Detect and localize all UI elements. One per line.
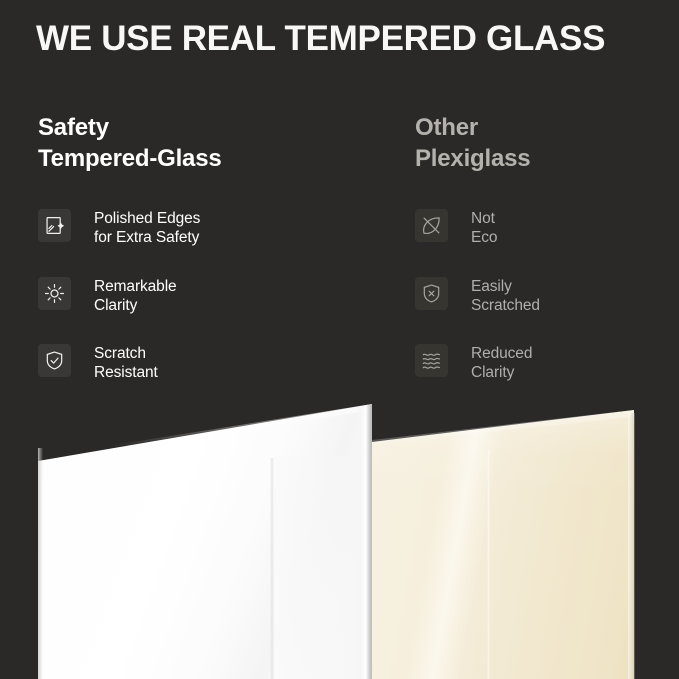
feature-scratch-resistant: Scratch Resistant: [38, 344, 158, 382]
feature-label: Not Eco: [471, 209, 497, 247]
feature-not-eco: Not Eco: [415, 209, 497, 247]
feature-label: Reduced Clarity: [471, 344, 532, 382]
plexiglass-panel: [372, 410, 634, 679]
feature-label: Easily Scratched: [471, 277, 540, 315]
feature-label: Polished Edges for Extra Safety: [94, 209, 200, 247]
feature-reduced-clarity: Reduced Clarity: [415, 344, 532, 382]
tempered-glass-panel: [38, 404, 372, 679]
polished-edges-icon: [38, 209, 71, 242]
feature-remarkable-clarity: Remarkable Clarity: [38, 277, 177, 315]
feature-label: Remarkable Clarity: [94, 277, 177, 315]
not-eco-crossed-leaf-icon: [415, 209, 448, 242]
feature-polished-edges: Polished Edges for Extra Safety: [38, 209, 200, 247]
comparison-infographic: WE USE REAL TEMPERED GLASS Safety Temper…: [0, 0, 679, 679]
column-heading-right: Other Plexiglass: [415, 112, 530, 174]
wavy-lines-icon: [415, 344, 448, 377]
shield-check-icon: [38, 344, 71, 377]
page-title: WE USE REAL TEMPERED GLASS: [36, 18, 656, 60]
shield-x-icon: [415, 277, 448, 310]
clarity-sun-icon: [38, 277, 71, 310]
feature-easily-scratched: Easily Scratched: [415, 277, 540, 315]
product-photo: [0, 390, 679, 679]
column-heading-left: Safety Tempered-Glass: [38, 112, 222, 174]
feature-label: Scratch Resistant: [94, 344, 158, 382]
